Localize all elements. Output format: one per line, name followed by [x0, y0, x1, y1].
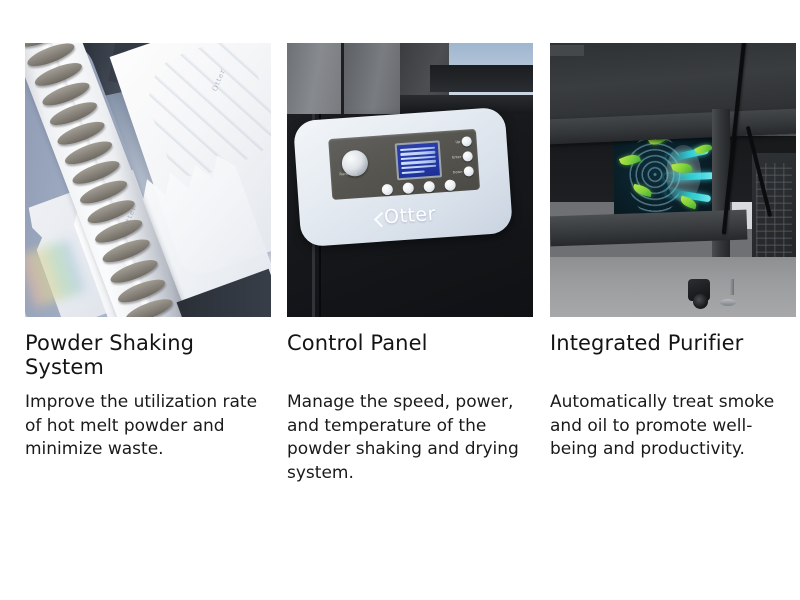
function-button-3[interactable]: F3 — [423, 181, 435, 198]
up-button[interactable] — [462, 137, 473, 148]
photo3-frame-detail — [550, 45, 584, 56]
function-button-4[interactable]: F4 — [444, 179, 456, 196]
side-button-group: Up Enter Down — [436, 137, 474, 179]
photo2-cabinet-middle — [341, 43, 403, 125]
airflow-arrow-icon — [663, 172, 713, 181]
function-button-dot[interactable] — [444, 179, 456, 191]
feature-description: Improve the utilization rate of hot melt… — [25, 391, 267, 462]
feature-columns: Otter Otter Powder Shaking System Improv… — [0, 0, 800, 485]
feature-image-powder-shaking-system: Otter Otter — [25, 43, 271, 317]
side-button-row[interactable]: Enter — [452, 152, 474, 163]
feature-image-integrated-purifier — [550, 43, 796, 317]
side-button-label: Up — [455, 141, 460, 145]
feature-card-integrated-purifier: Integrated Purifier Automatically treat … — [550, 0, 800, 485]
photo3-caster-wheel — [693, 294, 708, 309]
photo3-leveling-rod — [730, 279, 734, 295]
control-panel-face[interactable]: Run/Stop Up — [293, 107, 513, 247]
side-button-row[interactable]: Up — [455, 137, 472, 148]
feature-title: Integrated Purifier — [550, 331, 800, 355]
brand-name: Otter — [383, 203, 436, 229]
lcd-display — [395, 140, 442, 181]
function-button-row: F1 F2 F3 F4 — [381, 179, 456, 200]
side-button-label: Enter — [452, 155, 461, 160]
feature-card-control-panel: Run/Stop Up — [287, 0, 537, 485]
feature-title: Powder Shaking System — [25, 331, 275, 379]
feature-card-powder-shaking-system: Otter Otter Powder Shaking System Improv… — [25, 0, 275, 485]
control-panel-keypad-area: Run/Stop Up — [328, 129, 480, 200]
function-button-label: F2 — [407, 194, 411, 198]
function-button-label: F1 — [386, 196, 390, 200]
function-button-dot[interactable] — [381, 183, 393, 195]
photo2-upper-rail — [430, 65, 533, 92]
photo3-floor — [550, 257, 796, 317]
function-button-1[interactable]: F1 — [381, 183, 393, 200]
side-button-label: Down — [452, 170, 462, 175]
feature-title: Control Panel — [287, 331, 537, 355]
feature-grid-page: Otter Otter Powder Shaking System Improv… — [0, 0, 800, 600]
enter-button[interactable] — [463, 152, 474, 163]
function-button-label: F3 — [428, 193, 432, 197]
photo3-leveling-foot — [720, 299, 736, 306]
side-button-row[interactable]: Down — [452, 167, 474, 178]
feature-image-control-panel: Run/Stop Up — [287, 43, 533, 317]
function-button-2[interactable]: F2 — [402, 182, 414, 199]
function-button-dot[interactable] — [423, 181, 435, 193]
function-button-dot[interactable] — [402, 182, 414, 194]
feature-description: Automatically treat smoke and oil to pro… — [550, 391, 792, 462]
lcd-text-line — [402, 170, 425, 174]
down-button[interactable] — [464, 167, 475, 178]
feature-description: Manage the speed, power, and temperature… — [287, 391, 529, 485]
lcd-text-line — [402, 165, 436, 170]
brand-logo: Otter — [299, 198, 512, 235]
function-button-label: F4 — [449, 191, 453, 195]
